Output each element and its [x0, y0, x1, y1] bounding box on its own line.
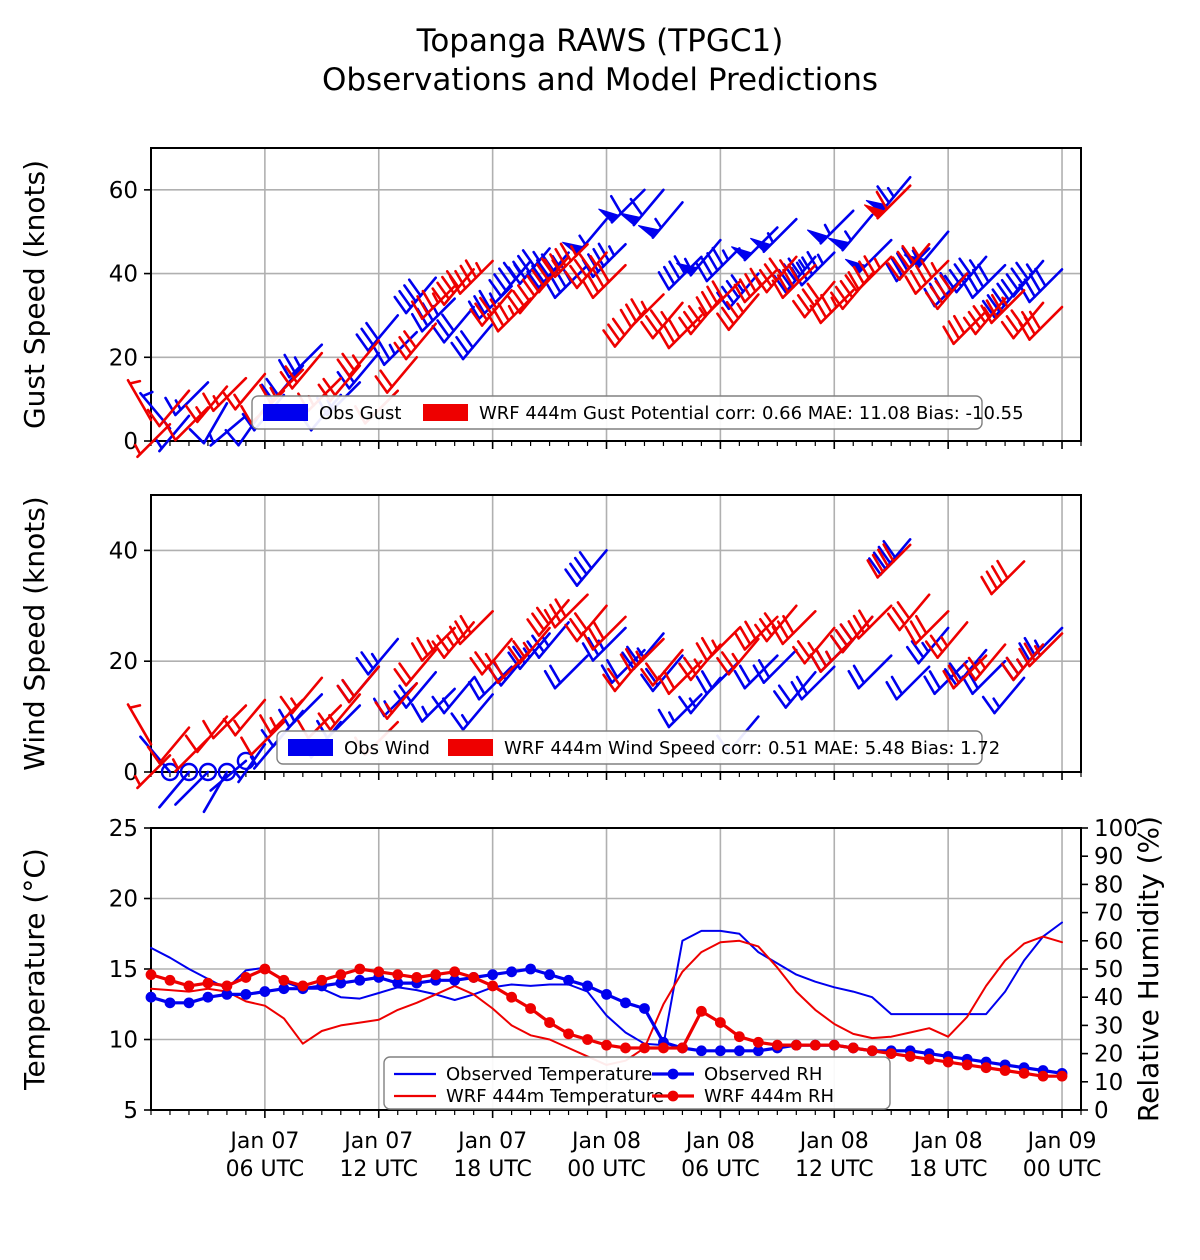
wind-barb: [983, 678, 1024, 713]
barb-half: [423, 707, 428, 716]
barb-half: [642, 302, 647, 311]
y-tick-label-right: 0: [1094, 1098, 1109, 1124]
y-tick-label-right: 20: [1094, 1042, 1123, 1068]
y-tick-label: 0: [123, 760, 138, 786]
series-marker: [772, 1040, 783, 1051]
series-marker: [582, 981, 593, 992]
barb-half: [234, 721, 240, 730]
temperature-axis-label: Temperature (°C): [18, 848, 51, 1091]
barb-pennant: [599, 209, 620, 222]
series-marker: [867, 1045, 878, 1056]
series-marker: [734, 1031, 745, 1042]
x-tick-label-date: Jan 07: [228, 1129, 299, 1154]
series-marker: [354, 964, 365, 975]
wind-barb: [186, 717, 227, 752]
y-tick-label: 25: [109, 816, 138, 842]
barb-half: [390, 345, 395, 354]
series-marker: [146, 969, 157, 980]
wind-barb: [452, 694, 493, 729]
y-tick-label: 5: [123, 1098, 138, 1124]
series-marker: [278, 975, 289, 986]
series-marker: [620, 1043, 631, 1054]
series-marker: [753, 1037, 764, 1048]
x-tick-label-date: Jan 08: [684, 1129, 755, 1154]
barb-half: [713, 641, 718, 650]
x-tick-label-time: 18 UTC: [453, 1157, 532, 1182]
x-tick-label-time: 00 UTC: [567, 1157, 646, 1182]
barb-full: [148, 747, 159, 763]
series-marker: [582, 1034, 593, 1045]
series-marker: [1057, 1071, 1068, 1082]
barb-half: [809, 643, 815, 652]
barb-half: [476, 263, 481, 272]
legend-wrf-rh-marker: [668, 1091, 679, 1102]
legend-obs-wind-swatch: [288, 739, 333, 756]
series-marker: [601, 989, 612, 1000]
barb-half: [462, 715, 468, 724]
barb-half: [130, 381, 140, 383]
series-marker: [620, 997, 631, 1008]
x-tick-label-date: Jan 07: [342, 1129, 413, 1154]
series-marker: [1000, 1065, 1011, 1076]
legend-observed-temperature-label: Observed Temperature: [446, 1064, 652, 1085]
legend-obs-wind-label: Obs Wind: [344, 738, 430, 759]
weather-timeseries-figure: 0204060Gust Speed (knots)02040Wind Speed…: [0, 0, 1200, 1260]
wind-barb: [433, 307, 474, 342]
barb-half: [669, 713, 674, 722]
y-tick-label: 40: [109, 538, 138, 564]
x-tick-label-time: 18 UTC: [909, 1157, 988, 1182]
series-marker: [544, 969, 555, 980]
series-marker: [335, 969, 346, 980]
barb-staff: [128, 704, 151, 744]
barb-half: [509, 306, 514, 315]
series-marker: [696, 1045, 707, 1056]
barb-half: [443, 699, 449, 708]
temp-rh-legend: Observed TemperatureObserved RHWRF 444m …: [384, 1057, 890, 1109]
barb-half: [448, 638, 454, 647]
series-marker: [316, 975, 327, 986]
wind-barb: [450, 611, 492, 644]
series-marker: [639, 1043, 650, 1054]
series-marker: [506, 992, 517, 1003]
barb-full: [186, 736, 197, 752]
y-tick-label-right: 80: [1094, 872, 1123, 898]
series-marker: [487, 981, 498, 992]
series-marker: [544, 1017, 555, 1028]
wind-barb: [845, 240, 891, 273]
barb-pennant: [807, 230, 828, 243]
wind-barb: [140, 737, 178, 780]
y-tick-label-right: 40: [1094, 985, 1123, 1011]
series-marker: [525, 1003, 536, 1014]
series-marker: [715, 1017, 726, 1028]
barb-full: [659, 710, 669, 727]
barb-half: [994, 699, 1000, 708]
title-line-1: Topanga RAWS (TPGC1): [0, 22, 1200, 61]
series-marker: [677, 1043, 688, 1054]
barb-half: [130, 705, 140, 707]
barb-staff: [159, 728, 189, 763]
wind-barb: [566, 550, 607, 585]
legend-wrf-gust-swatch: [423, 404, 468, 421]
wind-axis-label: Wind Speed (knots): [18, 496, 51, 770]
x-tick-label-time: 06 UTC: [681, 1157, 760, 1182]
y-tick-label: 10: [109, 1028, 138, 1054]
barb-series-obs-wind: [140, 539, 1062, 812]
wind-barb: [849, 606, 891, 639]
x-tick-label-time: 00 UTC: [1023, 1157, 1102, 1182]
series-marker: [240, 972, 251, 983]
wind-barb: [982, 561, 1024, 594]
x-tick-label-date: Jan 08: [570, 1129, 641, 1154]
series-marker: [601, 1040, 612, 1051]
series-marker: [791, 1040, 802, 1051]
series-marker: [468, 972, 479, 983]
series-marker: [981, 1062, 992, 1073]
legend-observed-rh-marker: [668, 1069, 679, 1080]
y-tick-label-right: 90: [1094, 844, 1123, 870]
series-marker: [848, 1043, 859, 1054]
series-marker: [943, 1057, 954, 1068]
title-line-2: Observations and Model Predictions: [0, 61, 1200, 100]
barb-half: [723, 251, 728, 260]
barb-half: [662, 312, 668, 321]
humidity-axis-label: Relative Humidity (%): [1132, 816, 1165, 1122]
series-marker: [962, 1059, 973, 1070]
barb-half: [656, 219, 662, 228]
series-marker: [203, 978, 214, 989]
barb-half: [234, 395, 240, 404]
series-marker: [165, 997, 176, 1008]
figure-title: Topanga RAWS (TPGC1) Observations and Mo…: [0, 22, 1200, 100]
legend-obs-gust-label: Obs Gust: [319, 403, 402, 424]
wind-barb: [452, 324, 493, 359]
wind-barb: [433, 678, 474, 713]
wind-barb: [638, 202, 682, 237]
series-marker: [905, 1051, 916, 1062]
y-tick-label: 40: [109, 262, 138, 288]
barb-pennant: [828, 238, 849, 250]
barb-half: [932, 263, 937, 272]
series-marker: [506, 966, 517, 977]
x-tick-label-time: 06 UTC: [226, 1157, 305, 1182]
series-marker: [563, 1028, 574, 1039]
wind-barb: [792, 667, 834, 700]
series-marker: [297, 981, 308, 992]
x-tick-label-date: Jan 08: [912, 1129, 983, 1154]
series-marker: [829, 1040, 840, 1051]
legend-wrf-gust-label: WRF 444m Gust Potential corr: 0.66 MAE: …: [479, 403, 1024, 424]
series-marker: [1038, 1071, 1049, 1082]
series-marker: [411, 972, 422, 983]
barb-pennant: [638, 225, 659, 237]
barb-half: [825, 225, 830, 234]
y-tick-label: 20: [109, 649, 138, 675]
wind-barb: [888, 595, 929, 630]
figure-root: Topanga RAWS (TPGC1) Observations and Mo…: [0, 0, 1200, 1260]
x-tick-label-date: Jan 09: [1026, 1129, 1097, 1154]
series-marker: [203, 992, 214, 1003]
barb-full: [226, 430, 239, 445]
y-tick-label: 20: [109, 345, 138, 371]
barb-half: [295, 358, 300, 367]
y-tick-label-right: 60: [1094, 929, 1123, 955]
series-marker: [734, 1045, 745, 1056]
barb-half: [845, 232, 851, 241]
series-marker: [639, 1003, 650, 1014]
series-marker: [146, 992, 157, 1003]
y-tick-label: 20: [109, 887, 138, 913]
series-marker: [259, 986, 270, 997]
barb-full: [412, 704, 422, 721]
wind-barb: [128, 704, 151, 744]
x-tick-label-time: 12 UTC: [795, 1157, 874, 1182]
gust-legend: Obs GustWRF 444m Gust Potential corr: 0.…: [252, 396, 1024, 429]
legend-wrf-temperature-label: WRF 444m Temperature: [446, 1086, 664, 1107]
wind-barb: [963, 265, 1005, 298]
wind-barb: [395, 324, 436, 359]
y-tick-label-right: 30: [1094, 1013, 1123, 1039]
series-marker: [354, 975, 365, 986]
barb-staff: [213, 706, 246, 739]
series-marker: [430, 969, 441, 980]
series-marker: [715, 1045, 726, 1056]
barb-half: [1027, 265, 1033, 274]
barb-half: [826, 652, 831, 661]
wind-barb: [281, 678, 322, 713]
barb-half: [970, 260, 976, 269]
series-marker: [165, 975, 176, 986]
series-marker: [184, 997, 195, 1008]
series-marker: [240, 989, 251, 1000]
gust-axis-label: Gust Speed (knots): [18, 160, 51, 429]
wind-barb: [887, 667, 929, 700]
series-marker: [563, 975, 574, 986]
wind-barb: [279, 694, 321, 727]
legend-wrf-wind-swatch: [448, 739, 493, 756]
y-tick-label-right: 50: [1094, 957, 1123, 983]
series-marker: [259, 964, 270, 975]
series-marker: [525, 964, 536, 975]
barb-pennant: [619, 213, 640, 225]
legend-wrf-wind-label: WRF 444m Wind Speed corr: 0.51 MAE: 5.48…: [504, 738, 1000, 759]
series-marker: [449, 966, 460, 977]
barb-half: [271, 718, 276, 727]
y-tick-label: 15: [109, 957, 138, 983]
barb-half: [875, 259, 880, 268]
series-marker: [658, 1043, 669, 1054]
barb-half: [738, 304, 744, 313]
barb-half: [818, 255, 823, 264]
y-tick-label: 0: [123, 429, 138, 455]
series-marker: [222, 981, 233, 992]
legend-observed-rh-label: Observed RH: [704, 1064, 822, 1085]
series-marker: [392, 969, 403, 980]
wind-barb: [754, 650, 796, 683]
series-marker: [487, 969, 498, 980]
wind-barb: [450, 261, 492, 294]
series-marker: [373, 966, 384, 977]
barb-full: [611, 196, 621, 213]
y-tick-label-right: 70: [1094, 901, 1123, 927]
legend-wrf-rh-label: WRF 444m RH: [704, 1086, 834, 1107]
series-marker: [1019, 1068, 1030, 1079]
barb-full: [203, 721, 213, 738]
barb-half: [329, 715, 335, 724]
y-tick-label: 60: [109, 178, 138, 204]
barb-full: [631, 199, 642, 215]
barb-half: [609, 246, 614, 255]
series-marker: [696, 1006, 707, 1017]
series-marker: [924, 1054, 935, 1065]
x-tick-label-time: 12 UTC: [339, 1157, 418, 1182]
wind-legend: Obs WindWRF 444m Wind Speed corr: 0.51 M…: [277, 731, 1000, 764]
barb-half: [942, 638, 948, 647]
legend-obs-gust-swatch: [263, 404, 308, 421]
x-tick-label-date: Jan 07: [456, 1129, 527, 1154]
series-marker: [184, 981, 195, 992]
barb-half: [580, 236, 586, 245]
barb-half: [291, 699, 297, 708]
series-marker: [810, 1040, 821, 1051]
x-tick-label-date: Jan 08: [798, 1129, 869, 1154]
y-tick-label-right: 10: [1094, 1070, 1123, 1096]
